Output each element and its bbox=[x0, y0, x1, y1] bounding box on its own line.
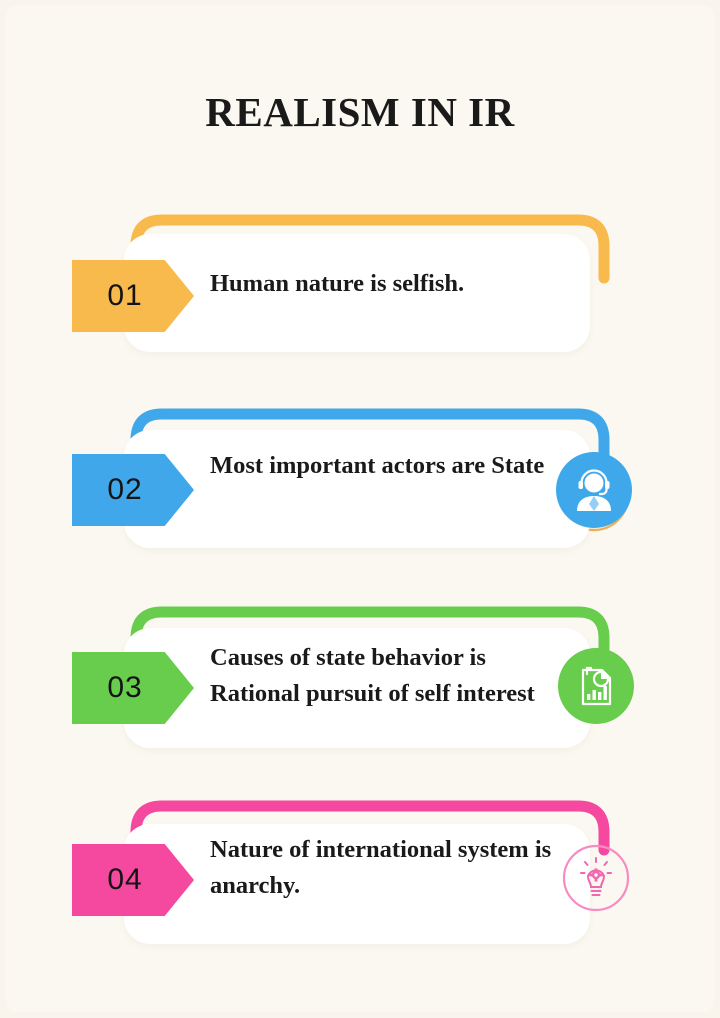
card-text: Causes of state behavior is Rational pur… bbox=[210, 640, 562, 712]
card-number: 01 bbox=[107, 279, 142, 313]
card-icon-circle bbox=[556, 452, 632, 528]
lightbulb-gear-icon bbox=[558, 840, 634, 916]
card-icon-circle bbox=[558, 648, 634, 724]
card-icon-circle bbox=[558, 840, 634, 916]
report-chart-document-icon bbox=[558, 648, 634, 724]
infographic-poster: REALISM IN IR 01 Human nature is selfish… bbox=[0, 0, 720, 1018]
card-text: Human nature is selfish. bbox=[210, 266, 562, 302]
card-number: 03 bbox=[107, 671, 142, 705]
card-number: 02 bbox=[107, 473, 142, 507]
page-title: REALISM IN IR bbox=[0, 88, 720, 136]
card-text: Most important actors are State bbox=[210, 448, 562, 484]
card-number: 04 bbox=[107, 863, 142, 897]
person-headset-icon bbox=[556, 452, 632, 528]
card-text: Nature of international system is anarch… bbox=[210, 832, 562, 904]
